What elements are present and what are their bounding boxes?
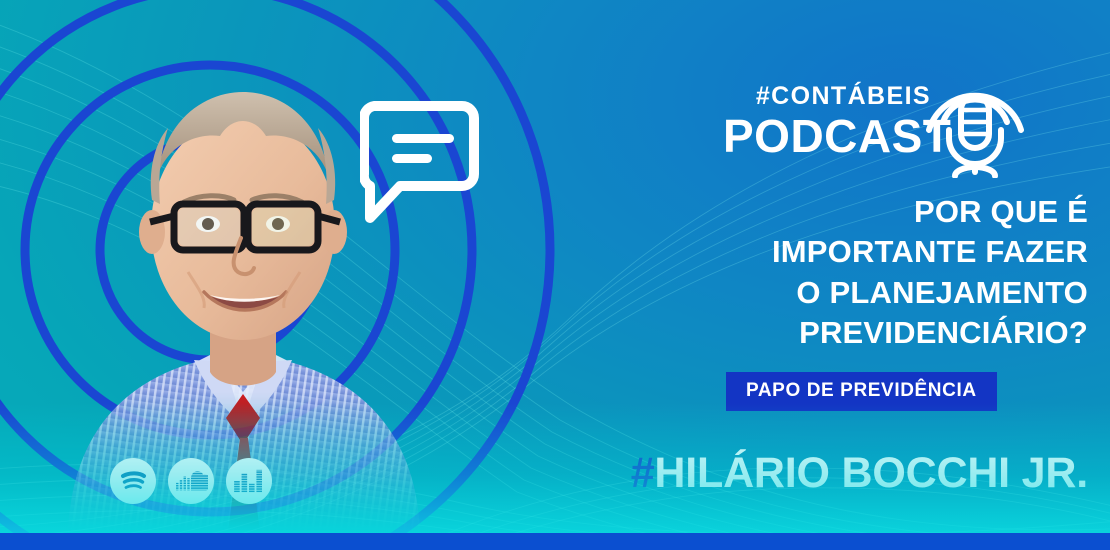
headline-line-2: IMPORTANTE FAZER <box>528 232 1088 272</box>
soundcloud-icon <box>174 467 208 495</box>
bottom-blue-bar <box>0 533 1110 550</box>
soundcloud-button[interactable] <box>168 458 214 504</box>
headline-line-1: POR QUE É <box>528 192 1088 232</box>
guest-name-text: HILÁRIO BOCCHI JR. <box>654 449 1088 497</box>
podcast-logo: #CONTÁBEIS PODCAST <box>723 84 1023 194</box>
brand-podcast-word: PODCAST <box>723 113 931 159</box>
guest-name-hash: # <box>631 449 655 497</box>
platform-icons <box>110 458 272 504</box>
chat-bubble-icon <box>360 100 480 225</box>
podcast-cover: #CONTÁBEIS PODCAST POR QUE É IMPORTANTE … <box>0 0 1110 550</box>
brand-hashtag: #CONTÁBEIS <box>723 84 931 109</box>
spotify-icon <box>117 465 149 497</box>
deezer-button[interactable] <box>226 458 272 504</box>
series-badge: PAPO DE PREVIDÊNCIA <box>726 372 997 411</box>
podcast-microphone-icon <box>923 60 1027 178</box>
deezer-icon <box>233 468 265 494</box>
headline-line-4: PREVIDENCIÁRIO? <box>528 313 1088 353</box>
spotify-button[interactable] <box>110 458 156 504</box>
concentric-sound-rings-icon <box>0 0 590 550</box>
headline-line-3: O PLANEJAMENTO <box>528 273 1088 313</box>
guest-name: #HILÁRIO BOCCHI JR. <box>631 452 1088 495</box>
episode-headline: POR QUE É IMPORTANTE FAZER O PLANEJAMENT… <box>528 192 1088 353</box>
